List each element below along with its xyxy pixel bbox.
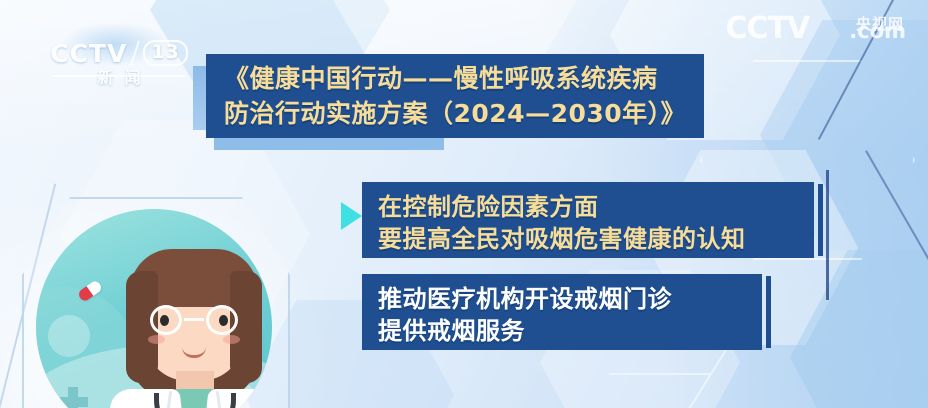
logo-row-primary: CCTV 13	[50, 40, 188, 66]
cctv13-logo: CCTV 13 新闻	[46, 30, 192, 96]
title-line-1: 《健康中国行动——慢性呼吸系统疾病	[224, 61, 688, 96]
logo-slash-icon	[130, 41, 140, 65]
eyeglasses-icon	[144, 305, 244, 335]
channel-number: 13	[143, 40, 187, 66]
decorative-bubble	[48, 315, 90, 357]
cheek-left	[148, 335, 165, 344]
box1-right-edge	[818, 184, 823, 256]
box1-line-2: 要提高全民对吸烟危害健康的认知	[378, 223, 800, 255]
cctv-wordmark: CCTV	[50, 41, 127, 66]
logo-underbar	[52, 75, 186, 77]
cheek-right	[223, 335, 240, 344]
lens-right	[206, 305, 238, 335]
stethoscope-icon	[154, 393, 236, 408]
box2-line-1: 推动医疗机构开设戒烟门诊	[378, 283, 748, 315]
document-title-plate: 《健康中国行动——慢性呼吸系统疾病 防治行动实施方案（2024—2030年）》	[206, 54, 704, 138]
triangle-marker-icon	[341, 202, 362, 230]
diagonal-line	[826, 170, 829, 300]
channel-name: 新闻	[86, 70, 151, 86]
title-line-2: 防治行动实施方案（2024—2030年）》	[224, 96, 688, 131]
medical-cross-icon	[58, 387, 88, 408]
box2-line-2: 提供戒烟服务	[378, 315, 748, 347]
doctor-illustration	[0, 185, 300, 408]
glasses-bridge	[184, 318, 204, 321]
box2-right-edge	[766, 276, 771, 348]
box1-line-1: 在控制危险因素方面	[378, 191, 800, 223]
highlight-box-1: 在控制危险因素方面 要提高全民对吸烟危害健康的认知	[362, 182, 814, 258]
broadcast-graphic: CCTV 13 新闻 央视网 CCTV.com 《健康中国行动——慢性呼吸系统疾…	[0, 0, 928, 408]
doctor-figure	[114, 243, 272, 408]
lens-left	[150, 305, 182, 335]
highlight-box-2: 推动医疗机构开设戒烟门诊 提供戒烟服务	[362, 274, 762, 350]
